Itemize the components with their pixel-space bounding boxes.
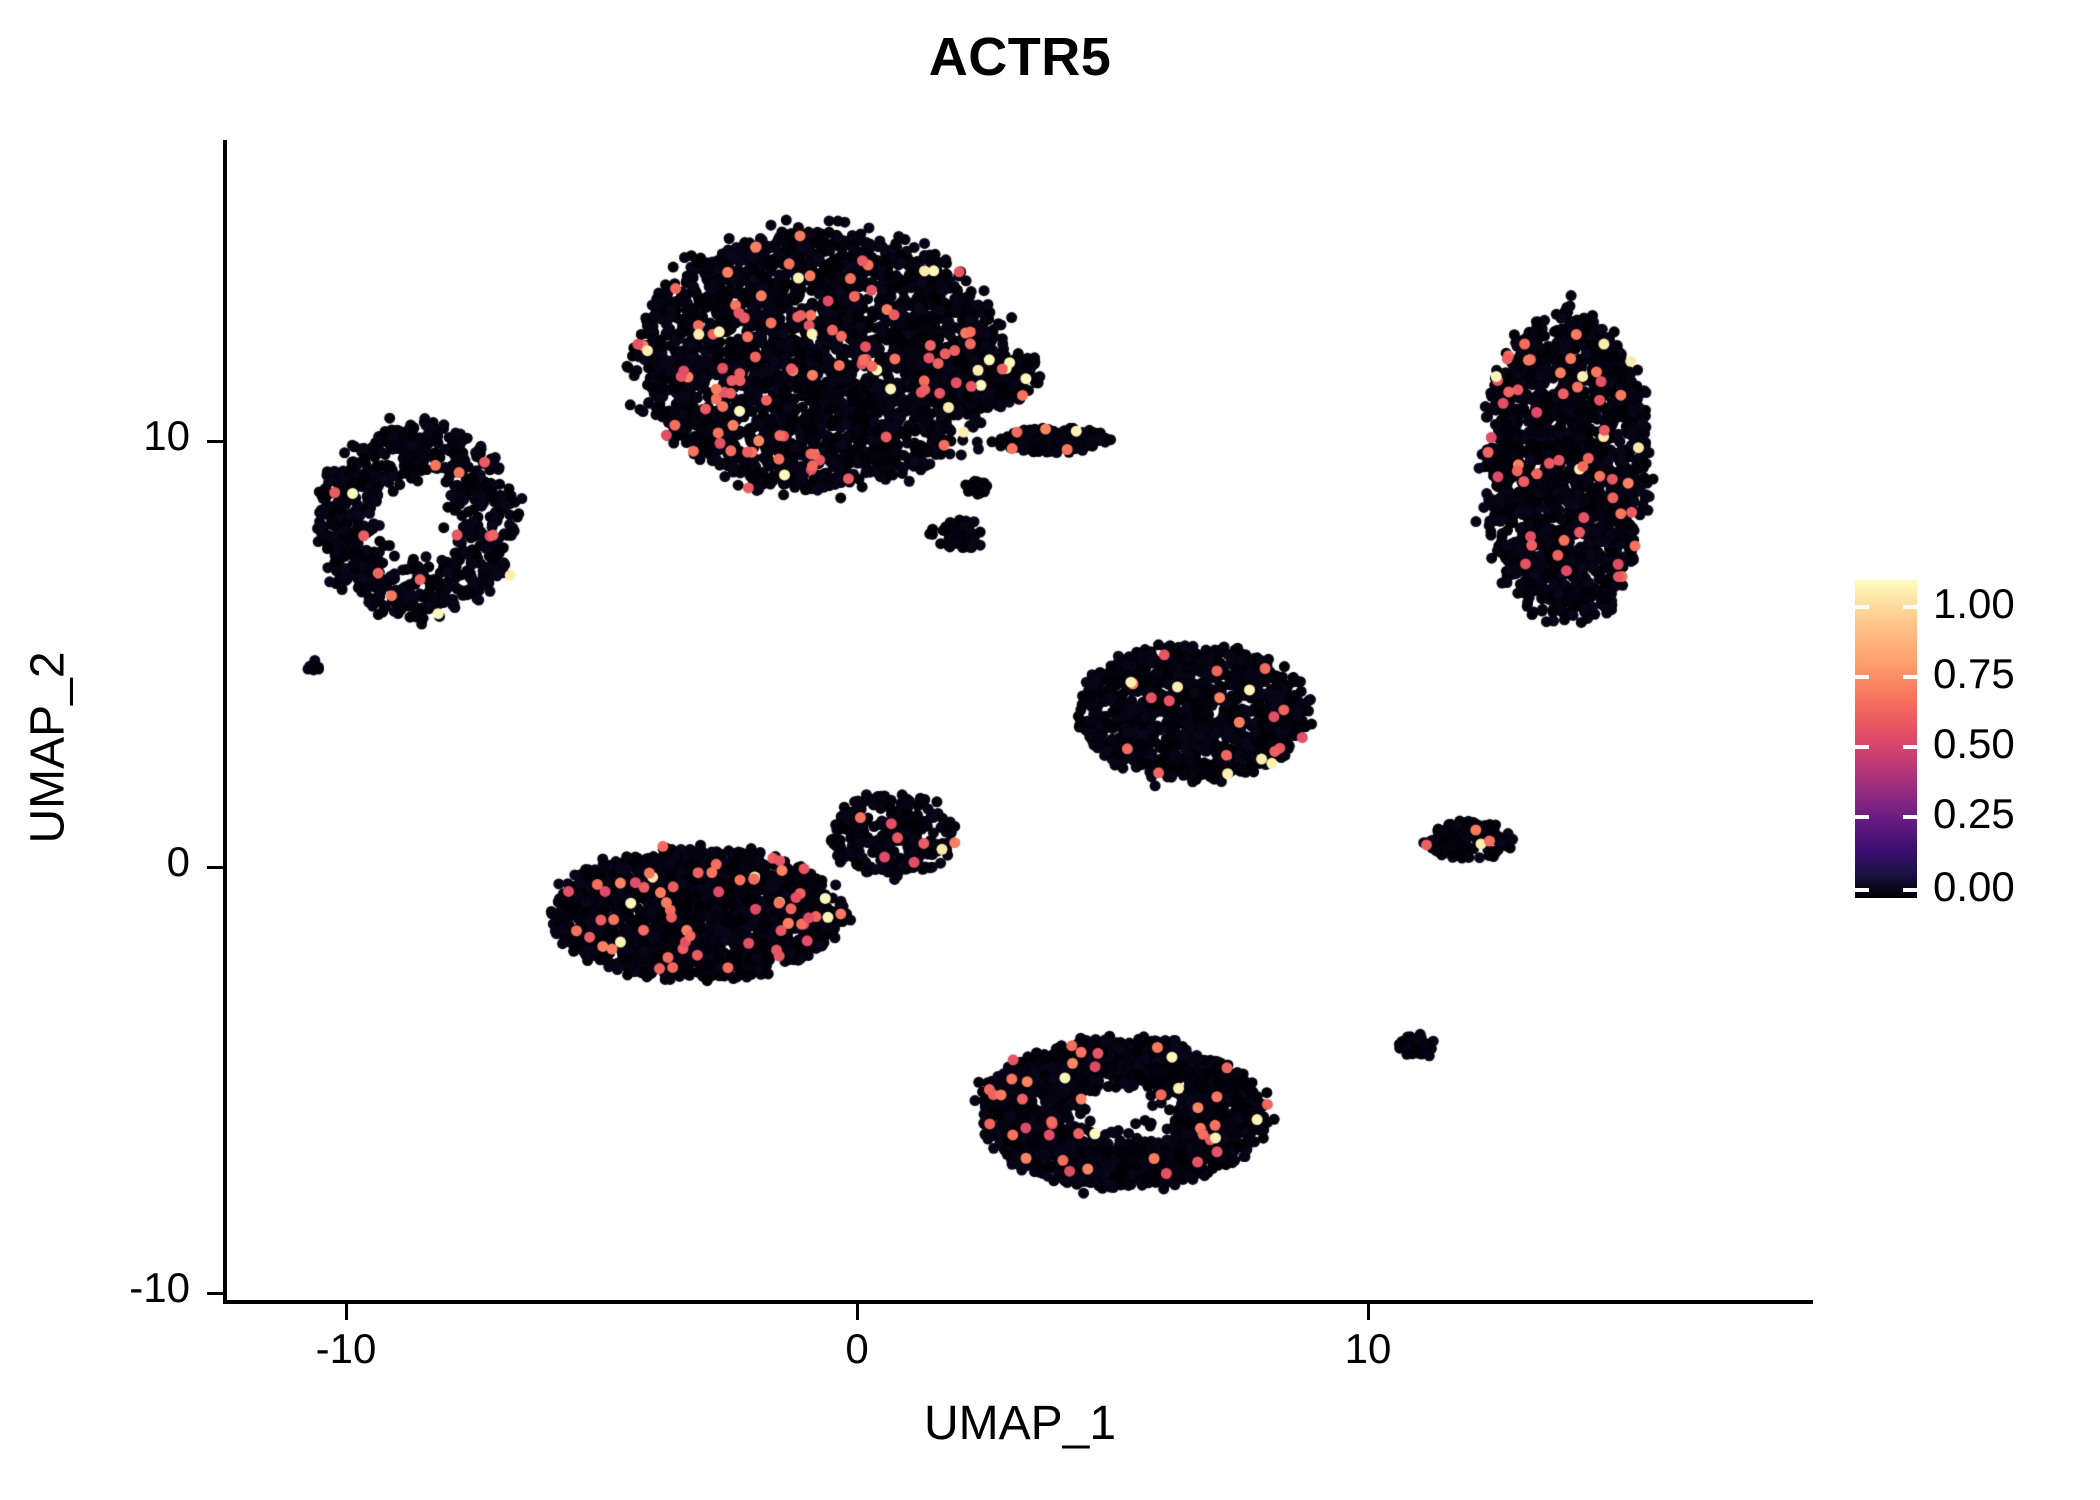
colorbar-tick: [1855, 745, 1869, 749]
colorbar-tick: [1855, 815, 1869, 819]
colorbar-gradient: [1855, 580, 1917, 898]
colorbar-tick: [1903, 815, 1917, 819]
x-tick-label: 10: [1288, 1325, 1448, 1373]
plot-panel: [225, 140, 1810, 1302]
colorbar-tick: [1855, 675, 1869, 679]
x-tick-label: 0: [777, 1325, 937, 1373]
y-axis-line: [223, 140, 227, 1304]
x-tick-label: -10: [266, 1325, 426, 1373]
colorbar-tick: [1855, 605, 1869, 609]
y-tick-label: 10: [20, 412, 190, 460]
colorbar-label: 0.75: [1933, 650, 2015, 698]
colorbar-label: 1.00: [1933, 580, 2015, 628]
colorbar-label: 0.50: [1933, 720, 2015, 768]
colorbar-legend: 1.00 0.75 0.50 0.25 0.00: [1855, 580, 2065, 910]
colorbar-label: 0.00: [1933, 863, 2015, 911]
x-tick-mark: [345, 1304, 348, 1320]
x-tick-mark: [856, 1304, 859, 1320]
x-axis-line: [223, 1300, 1813, 1304]
y-tick-mark: [207, 866, 223, 869]
colorbar-tick: [1903, 745, 1917, 749]
y-axis-title: UMAP_2: [21, 468, 76, 1028]
colorbar-tick: [1903, 675, 1917, 679]
colorbar-tick: [1903, 605, 1917, 609]
page-title: ACTR5: [0, 26, 2040, 88]
scatter-points-canvas: [225, 140, 1810, 1302]
figure-root: ACTR5 -10 0 10 10 0 -10 UMAP_1 UMAP_2 1.…: [0, 0, 2100, 1500]
colorbar-tick: [1855, 888, 1869, 892]
colorbar-tick: [1903, 888, 1917, 892]
y-tick-label: -10: [20, 1264, 190, 1312]
colorbar-label: 0.25: [1933, 790, 2015, 838]
x-tick-mark: [1367, 1304, 1370, 1320]
y-tick-mark: [207, 1292, 223, 1295]
y-tick-mark: [207, 440, 223, 443]
x-axis-title: UMAP_1: [0, 1396, 2040, 1451]
